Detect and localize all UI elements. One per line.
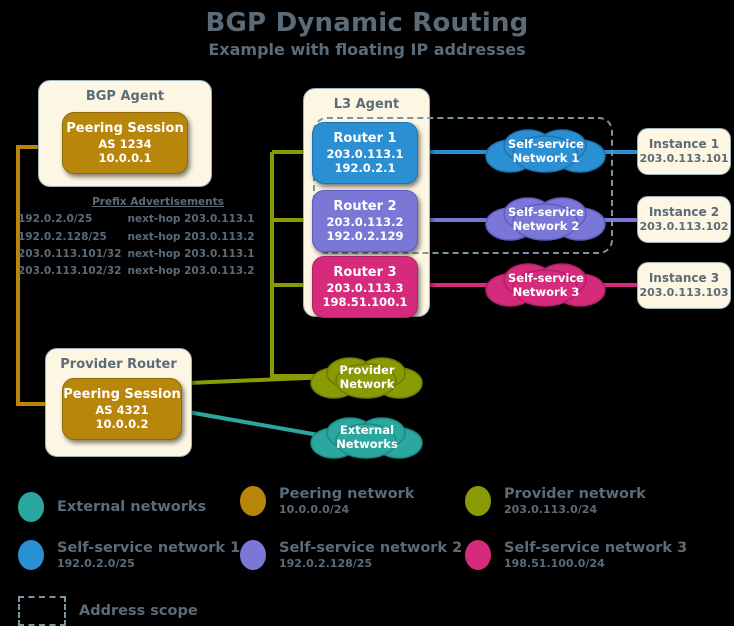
instance-name: Instance 3 — [649, 271, 719, 286]
instance-ip: 203.0.113.102 — [639, 220, 728, 234]
peering-session-ip: 10.0.0.1 — [98, 151, 151, 165]
legend-color-dot-icon — [465, 540, 491, 570]
legend-item-selfservice-network-2: Self-service network 2 192.0.2.128/25 — [240, 540, 462, 571]
legend-color-dot-icon — [18, 492, 44, 522]
bgp-agent-title: BGP Agent — [39, 89, 211, 104]
table-row: 192.0.2.128/25 next-hop 203.0.113.2 — [18, 229, 255, 246]
diagram-canvas: BGP Dynamic Routing Example with floatin… — [0, 0, 734, 625]
selfservice-network-3-cloud[interactable]: Self-service Network 3 — [484, 260, 608, 312]
instance-3[interactable]: Instance 3 203.0.113.103 — [637, 262, 731, 309]
cloud-line-1: Self-service — [508, 206, 584, 220]
router-2[interactable]: Router 2 203.0.113.2 192.0.2.129 — [312, 190, 418, 252]
legend-label: Self-service network 1 — [57, 540, 240, 557]
cloud-line-2: Network 1 — [508, 152, 584, 166]
prefix-advertisements-table: 192.0.2.0/25 next-hop 203.0.113.1 192.0.… — [18, 211, 255, 280]
instance-name: Instance 2 — [649, 205, 719, 220]
legend-label: Provider network — [504, 486, 646, 503]
table-row: 203.0.113.101/32 next-hop 203.0.113.1 — [18, 246, 255, 263]
instance-name: Instance 1 — [649, 137, 719, 152]
router-3[interactable]: Router 3 203.0.113.3 198.51.100.1 — [312, 256, 418, 318]
provider-peering-session[interactable]: Peering Session AS 4321 10.0.0.2 — [62, 378, 182, 440]
legend-label: Address scope — [79, 603, 198, 620]
legend-item-selfservice-network-3: Self-service network 3 198.51.100.0/24 — [465, 540, 687, 571]
l3-agent-title: L3 Agent — [304, 97, 429, 112]
provider-network-cloud[interactable]: Provider Network — [310, 352, 424, 404]
table-row: 192.0.2.0/25 next-hop 203.0.113.1 — [18, 211, 255, 228]
router-ip-2: 198.51.100.1 — [322, 295, 407, 309]
cloud-line-2: Networks — [336, 438, 398, 452]
cloud-line-2: Network 2 — [508, 220, 584, 234]
legend-sublabel: 203.0.113.0/24 — [504, 503, 646, 517]
router-name: Router 3 — [333, 265, 396, 281]
cloud-line-1: Self-service — [508, 138, 584, 152]
legend-item-selfservice-network-1: Self-service network 1 192.0.2.0/25 — [18, 540, 240, 571]
cloud-line-2: Network 3 — [508, 286, 584, 300]
legend-label: Peering network — [279, 486, 414, 503]
selfservice-network-2-cloud[interactable]: Self-service Network 2 — [484, 194, 608, 246]
legend-sublabel: 10.0.0.0/24 — [279, 503, 414, 517]
legend-label: Self-service network 3 — [504, 540, 687, 557]
prefix-cell: 203.0.113.102/32 — [18, 263, 121, 280]
legend-label: Self-service network 2 — [279, 540, 462, 557]
router-ip-2: 192.0.2.1 — [334, 161, 395, 175]
instance-1[interactable]: Instance 1 203.0.113.101 — [637, 128, 731, 175]
prefix-advertisements: Prefix Advertisements 192.0.2.0/25 next-… — [18, 194, 298, 280]
router-ip-1: 203.0.113.3 — [326, 281, 403, 295]
legend-color-dot-icon — [240, 540, 266, 570]
peering-session-as: AS 4321 — [95, 403, 148, 417]
legend-dashed-box-icon — [18, 596, 66, 626]
legend-sublabel: 192.0.2.128/25 — [279, 557, 462, 571]
cloud-line-1: Provider — [339, 364, 394, 378]
prefix-cell: 192.0.2.128/25 — [18, 229, 121, 246]
nexthop-cell: next-hop 203.0.113.1 — [121, 211, 254, 228]
instance-ip: 203.0.113.101 — [639, 152, 728, 166]
cloud-line-1: External — [336, 424, 398, 438]
legend-item-provider-network: Provider network 203.0.113.0/24 — [465, 486, 646, 517]
legend-item-external-networks: External networks — [18, 492, 206, 522]
nexthop-cell: next-hop 203.0.113.2 — [121, 263, 254, 280]
peering-session-label: Peering Session — [66, 121, 183, 137]
legend-color-dot-icon — [240, 486, 266, 516]
prefix-advertisements-heading: Prefix Advertisements — [18, 194, 298, 210]
cloud-line-1: Self-service — [508, 272, 584, 286]
wire-external-router-to-cloud — [188, 412, 330, 437]
router-ip-1: 203.0.113.2 — [326, 215, 403, 229]
legend-sublabel: 192.0.2.0/25 — [57, 557, 240, 571]
nexthop-cell: next-hop 203.0.113.1 — [121, 246, 254, 263]
table-row: 203.0.113.102/32 next-hop 203.0.113.2 — [18, 263, 255, 280]
router-ip-2: 192.0.2.129 — [326, 229, 403, 243]
selfservice-network-1-cloud[interactable]: Self-service Network 1 — [484, 126, 608, 178]
router-1[interactable]: Router 1 203.0.113.1 192.0.2.1 — [312, 122, 418, 184]
instance-2[interactable]: Instance 2 203.0.113.102 — [637, 196, 731, 243]
router-name: Router 2 — [333, 199, 396, 215]
router-name: Router 1 — [333, 131, 396, 147]
legend-item-address-scope: Address scope — [18, 596, 198, 626]
prefix-cell: 203.0.113.101/32 — [18, 246, 121, 263]
legend-color-dot-icon — [465, 486, 491, 516]
peering-session-ip: 10.0.0.2 — [95, 417, 148, 431]
router-ip-1: 203.0.113.1 — [326, 147, 403, 161]
legend-sublabel: 198.51.100.0/24 — [504, 557, 687, 571]
provider-router-title: Provider Router — [46, 357, 191, 372]
legend-item-peering-network: Peering network 10.0.0.0/24 — [240, 486, 414, 517]
legend-color-dot-icon — [18, 540, 44, 570]
cloud-line-2: Network — [339, 378, 394, 392]
wire-provider-router-to-cloud — [188, 377, 330, 383]
peering-session-as: AS 1234 — [98, 137, 151, 151]
external-networks-cloud[interactable]: External Networks — [310, 412, 424, 464]
instance-ip: 203.0.113.103 — [639, 286, 728, 300]
nexthop-cell: next-hop 203.0.113.2 — [121, 229, 254, 246]
bgp-peering-session[interactable]: Peering Session AS 1234 10.0.0.1 — [62, 112, 188, 174]
legend-label: External networks — [57, 499, 206, 516]
prefix-cell: 192.0.2.0/25 — [18, 211, 121, 228]
peering-session-label: Peering Session — [63, 387, 180, 403]
